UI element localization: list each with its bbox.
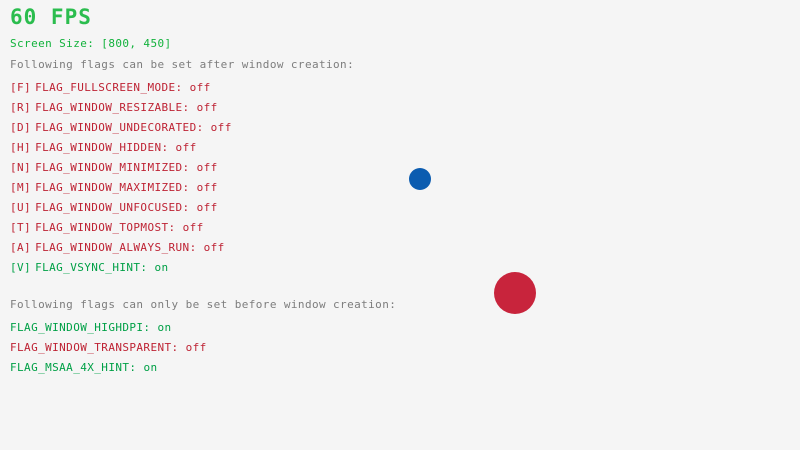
flag-name: FLAG_FULLSCREEN_MODE: <box>35 81 182 94</box>
startup-flag-item[interactable]: FLAG_WINDOW_TRANSPARENT: off <box>10 338 207 358</box>
flag-name: FLAG_WINDOW_HIDDEN: <box>35 141 168 154</box>
runtime-flag-item[interactable]: [U]FLAG_WINDOW_UNFOCUSED: off <box>10 198 232 218</box>
startup-flag-item[interactable]: FLAG_MSAA_4X_HINT: on <box>10 358 207 378</box>
ball-blue <box>409 168 431 190</box>
flag-value: off <box>197 161 218 174</box>
section-label-after-window-creation: Following flags can be set after window … <box>10 58 354 72</box>
flag-value: on <box>157 321 171 334</box>
raylib-window-canvas[interactable]: 60 FPS Screen Size: [800, 450] Following… <box>0 0 800 450</box>
flag-value: off <box>183 221 204 234</box>
flag-value: off <box>197 181 218 194</box>
flag-name: FLAG_MSAA_4X_HINT: <box>10 361 136 374</box>
runtime-flag-item[interactable]: [T]FLAG_WINDOW_TOPMOST: off <box>10 218 232 238</box>
flag-name: FLAG_WINDOW_MAXIMIZED: <box>35 181 190 194</box>
flag-name: FLAG_WINDOW_UNFOCUSED: <box>35 201 190 214</box>
flag-name: FLAG_VSYNC_HINT: <box>35 261 147 274</box>
startup-flag-list: FLAG_WINDOW_HIGHDPI: onFLAG_WINDOW_TRANS… <box>10 318 207 378</box>
flag-value: off <box>197 101 218 114</box>
flag-shortcut-key: [U] <box>10 201 31 214</box>
flag-shortcut-key: [F] <box>10 81 31 94</box>
flag-name: FLAG_WINDOW_MINIMIZED: <box>35 161 190 174</box>
flag-value: off <box>204 241 225 254</box>
flag-name: FLAG_WINDOW_HIGHDPI: <box>10 321 150 334</box>
flag-shortcut-key: [H] <box>10 141 31 154</box>
runtime-flag-item[interactable]: [A]FLAG_WINDOW_ALWAYS_RUN: off <box>10 238 232 258</box>
runtime-flag-list: [F]FLAG_FULLSCREEN_MODE: off[R]FLAG_WIND… <box>10 78 232 278</box>
flag-value: off <box>197 201 218 214</box>
runtime-flag-item[interactable]: [F]FLAG_FULLSCREEN_MODE: off <box>10 78 232 98</box>
flag-value: off <box>176 141 197 154</box>
fps-counter: 60 FPS <box>10 5 92 29</box>
flag-value: off <box>190 81 211 94</box>
flag-name: FLAG_WINDOW_ALWAYS_RUN: <box>35 241 197 254</box>
flag-shortcut-key: [A] <box>10 241 31 254</box>
runtime-flag-item[interactable]: [R]FLAG_WINDOW_RESIZABLE: off <box>10 98 232 118</box>
flag-name: FLAG_WINDOW_UNDECORATED: <box>35 121 204 134</box>
flag-shortcut-key: [R] <box>10 101 31 114</box>
runtime-flag-item[interactable]: [H]FLAG_WINDOW_HIDDEN: off <box>10 138 232 158</box>
flag-value: off <box>211 121 232 134</box>
flag-value: on <box>154 261 168 274</box>
flag-value: off <box>186 341 207 354</box>
screen-size-label: Screen Size: [800, 450] <box>10 37 172 51</box>
runtime-flag-item[interactable]: [D]FLAG_WINDOW_UNDECORATED: off <box>10 118 232 138</box>
flag-shortcut-key: [N] <box>10 161 31 174</box>
flag-name: FLAG_WINDOW_TOPMOST: <box>35 221 175 234</box>
flag-shortcut-key: [M] <box>10 181 31 194</box>
runtime-flag-item[interactable]: [N]FLAG_WINDOW_MINIMIZED: off <box>10 158 232 178</box>
flag-shortcut-key: [V] <box>10 261 31 274</box>
ball-red <box>494 272 536 314</box>
section-label-before-window-creation: Following flags can only be set before w… <box>10 298 396 312</box>
flag-shortcut-key: [T] <box>10 221 31 234</box>
flag-name: FLAG_WINDOW_TRANSPARENT: <box>10 341 179 354</box>
runtime-flag-item[interactable]: [M]FLAG_WINDOW_MAXIMIZED: off <box>10 178 232 198</box>
flag-value: on <box>143 361 157 374</box>
runtime-flag-item[interactable]: [V]FLAG_VSYNC_HINT: on <box>10 258 232 278</box>
flag-shortcut-key: [D] <box>10 121 31 134</box>
startup-flag-item[interactable]: FLAG_WINDOW_HIGHDPI: on <box>10 318 207 338</box>
flag-name: FLAG_WINDOW_RESIZABLE: <box>35 101 190 114</box>
